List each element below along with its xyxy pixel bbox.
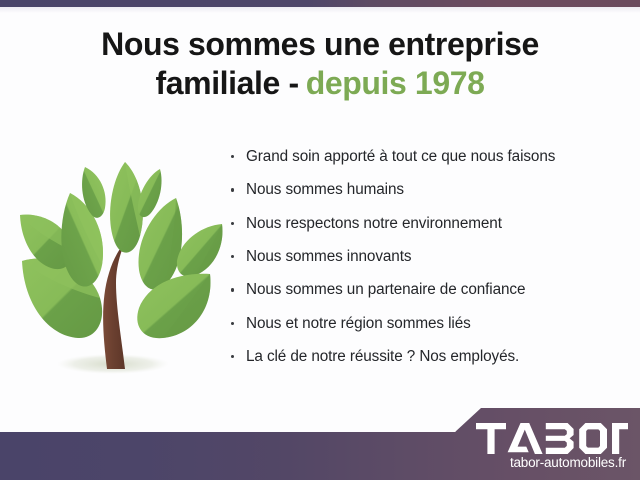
bullet-dot-icon [231, 288, 234, 291]
bullet-dot-icon [231, 155, 234, 158]
list-item: Nous sommes un partenaire de confiance [229, 281, 629, 300]
top-accent-bar [0, 0, 640, 7]
slide-canvas: Nous sommes une entreprise familiale -de… [0, 0, 640, 480]
headline-accent-since-1978: depuis 1978 [306, 65, 485, 101]
bullet-dot-icon [231, 322, 234, 325]
tree-trunk [103, 242, 125, 369]
bullet-dot-icon [231, 355, 234, 358]
bullet-dot-icon [231, 222, 234, 225]
list-item-label: Nous sommes innovants [246, 248, 411, 265]
bullet-dot-icon [231, 188, 234, 191]
headline-block: Nous sommes une entreprise familiale -de… [0, 26, 640, 103]
list-item-label: Nous sommes un partenaire de confiance [246, 281, 525, 298]
list-item-label: Nous et notre région sommes liés [246, 315, 471, 332]
list-item-label: La clé de notre réussite ? Nos employés. [246, 348, 519, 365]
list-item: Grand soin apporté à tout ce que nous fa… [229, 148, 629, 167]
bullet-dot-icon [231, 255, 234, 258]
footer-brand-band: tabor-automobiles.fr [0, 398, 640, 480]
brand-website-url: tabor-automobiles.fr [468, 456, 628, 470]
list-item-label: Nous respectons notre environnement [246, 215, 502, 232]
headline-line-2-text: familiale - [155, 65, 298, 101]
family-tree-illustration [8, 152, 236, 388]
headline-line-2: familiale -depuis 1978 [0, 65, 640, 102]
list-item-label: Grand soin apporté à tout ce que nous fa… [246, 148, 555, 165]
list-item: Nous sommes innovants [229, 248, 629, 267]
value-bullet-list: Grand soin apporté à tout ce que nous fa… [229, 148, 629, 367]
list-item: Nous respectons notre environnement [229, 215, 629, 234]
list-item: Nous sommes humains [229, 181, 629, 200]
list-item-label: Nous sommes humains [246, 181, 404, 198]
list-item: Nous et notre région sommes liés [229, 315, 629, 334]
list-item: La clé de notre réussite ? Nos employés. [229, 348, 629, 367]
band-top-highlight [0, 431, 456, 433]
tree-leaves [20, 162, 222, 338]
top-accent-bar-shadow [0, 7, 640, 13]
tabor-wordmark-logo [476, 423, 628, 454]
brand-lockup: tabor-automobiles.fr [468, 423, 628, 470]
headline-line-1: Nous sommes une entreprise [0, 26, 640, 63]
